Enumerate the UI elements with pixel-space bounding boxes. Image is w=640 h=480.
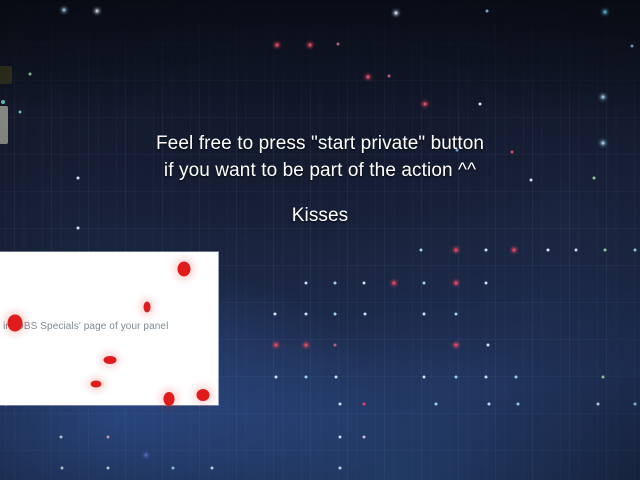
grid-node-dot [455, 282, 458, 285]
grid-node-dot [435, 403, 438, 406]
overlay-message: Feel free to press "start private" butto… [0, 130, 640, 229]
grid-node-dot [604, 11, 607, 14]
grid-node-dot [339, 467, 342, 470]
grid-node-dot [63, 9, 66, 12]
message-line-1: Feel free to press "start private" butto… [0, 130, 640, 157]
grid-node-dot [393, 282, 396, 285]
grid-node-dot [335, 376, 338, 379]
grid-node-dot [274, 313, 277, 316]
grid-node-dot [337, 43, 340, 46]
grid-node-dot [305, 376, 308, 379]
grid-node-dot [334, 282, 337, 285]
grid-node-dot [363, 436, 366, 439]
obs-notice-panel: ...ure this in 'OBS Specials' page of yo… [0, 252, 218, 405]
grid-node-dot [305, 282, 308, 285]
grid-node-dot [172, 467, 175, 470]
grid-node-dot [334, 344, 337, 347]
grid-node-dot [367, 76, 370, 79]
grid-node-dot [575, 249, 578, 252]
red-blob-marker [144, 302, 151, 313]
grid-node-dot [388, 75, 391, 78]
grid-node-dot [275, 376, 278, 379]
grid-node-dot [424, 103, 427, 106]
grid-node-dot [339, 436, 342, 439]
grid-node-dot [487, 344, 490, 347]
red-blob-marker [8, 315, 23, 332]
grid-node-dot [309, 44, 312, 47]
left-edge-dark-panel [0, 0, 18, 58]
grid-node-dot [29, 73, 32, 76]
grid-node-dot [395, 12, 398, 15]
grid-node-dot [455, 249, 458, 252]
left-edge-olive-swatch [0, 66, 12, 84]
grid-node-dot [634, 403, 637, 406]
grid-node-dot [486, 10, 489, 13]
grid-node-dot [61, 467, 64, 470]
grid-node-dot [420, 249, 423, 252]
panel-right-border [218, 252, 219, 405]
grid-node-dot [364, 313, 367, 316]
grid-node-dot [107, 467, 110, 470]
grid-node-dot [485, 249, 488, 252]
grid-node-dot [485, 282, 488, 285]
grid-node-dot [488, 403, 491, 406]
grid-node-dot [423, 282, 426, 285]
grid-node-dot [485, 376, 488, 379]
grid-node-dot [513, 249, 516, 252]
red-blob-marker [91, 381, 102, 388]
grid-node-dot [305, 313, 308, 316]
grid-node-dot [602, 96, 605, 99]
status-dot-icon [1, 100, 5, 104]
grid-node-dot [517, 403, 520, 406]
grid-node-dot [423, 376, 426, 379]
grid-node-dot [145, 454, 148, 457]
grid-node-dot [363, 282, 366, 285]
grid-node-dot [479, 103, 482, 106]
red-blob-marker [197, 389, 210, 401]
background-node-dots [0, 0, 640, 480]
message-signoff: Kisses [0, 202, 640, 229]
grid-node-dot [334, 313, 337, 316]
grid-node-dot [276, 44, 279, 47]
grid-node-dot [634, 249, 637, 252]
stream-overlay-screen: ...ure this in 'OBS Specials' page of yo… [0, 0, 640, 480]
grid-node-dot [455, 376, 458, 379]
red-blob-marker [104, 356, 117, 364]
grid-node-dot [604, 249, 607, 252]
grid-node-dot [597, 403, 600, 406]
grid-node-dot [363, 403, 366, 406]
message-line-2: if you want to be part of the action ^^ [0, 157, 640, 184]
grid-node-dot [211, 467, 214, 470]
grid-node-dot [275, 344, 278, 347]
grid-node-dot [60, 436, 63, 439]
grid-node-dot [19, 111, 22, 114]
grid-node-dot [455, 344, 458, 347]
grid-node-dot [547, 249, 550, 252]
grid-node-dot [423, 313, 426, 316]
grid-node-dot [305, 344, 308, 347]
red-blob-marker [164, 392, 175, 406]
grid-node-dot [339, 403, 342, 406]
grid-node-dot [515, 376, 518, 379]
grid-node-dot [602, 376, 605, 379]
grid-node-dot [631, 45, 634, 48]
message-spacer [0, 184, 640, 202]
grid-node-dot [107, 436, 110, 439]
grid-node-dot [96, 10, 99, 13]
grid-node-dot [455, 313, 458, 316]
red-blob-marker [178, 262, 191, 277]
obs-notice-text: ...ure this in 'OBS Specials' page of yo… [0, 320, 210, 333]
